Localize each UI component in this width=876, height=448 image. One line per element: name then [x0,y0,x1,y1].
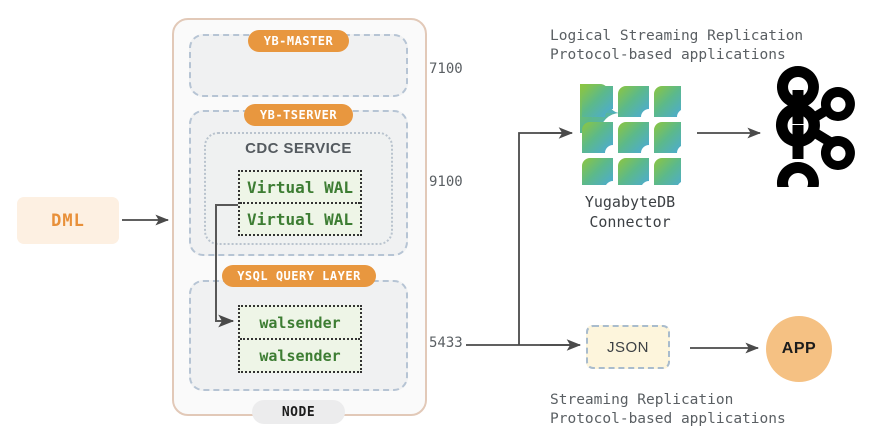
bottom-caption: Streaming ReplicationProtocol-based appl… [550,391,786,429]
node-label: NODE [252,400,345,424]
top-caption-line1: Logical Streaming Replication [550,28,803,44]
virtual-wal-stack: Virtual WAL Virtual WAL [238,170,362,236]
port-label-ybtserver: 9100 [429,174,463,190]
top-caption: Logical Streaming ReplicationProtocol-ba… [550,27,803,65]
diagram-canvas: DML YB-MASTER CDC SERVICE Virtual WAL Vi… [0,0,876,448]
cdc-service-title: CDC SERVICE [204,140,393,157]
connector-name-line2: Connector [589,213,670,231]
walsender-item: walsender [240,338,360,371]
apache-kafka-logo-icon [768,62,862,187]
app-consumer-circle: APP [766,316,832,382]
bottom-caption-line1: Streaming Replication [550,392,733,408]
yb-master-label: YB-MASTER [248,30,349,52]
port-label-ysql: 5433 [429,335,463,351]
yb-tserver-label: YB-TSERVER [244,104,353,126]
walsender-item: walsender [240,307,360,338]
dml-source-box: DML [17,197,119,244]
app-label: APP [782,340,816,358]
yugabytedb-connector-caption: YugabyteDB Connector [545,192,715,232]
json-format-box: JSON [586,325,670,369]
top-caption-line2: Protocol-based applications [550,47,786,63]
port-label-ybmaster: 7100 [429,61,463,77]
walsender-stack: walsender walsender [238,305,362,373]
connector-name-line1: YugabyteDB [585,193,675,211]
bottom-caption-line2: Protocol-based applications [550,411,786,427]
ysql-query-layer-label: YSQL QUERY LAYER [222,265,376,287]
virtual-wal-item: Virtual WAL [240,202,360,234]
json-label: JSON [607,339,649,356]
yugabytedb-logo-icon [578,82,681,185]
virtual-wal-item: Virtual WAL [240,172,360,202]
dml-label: DML [51,211,85,231]
